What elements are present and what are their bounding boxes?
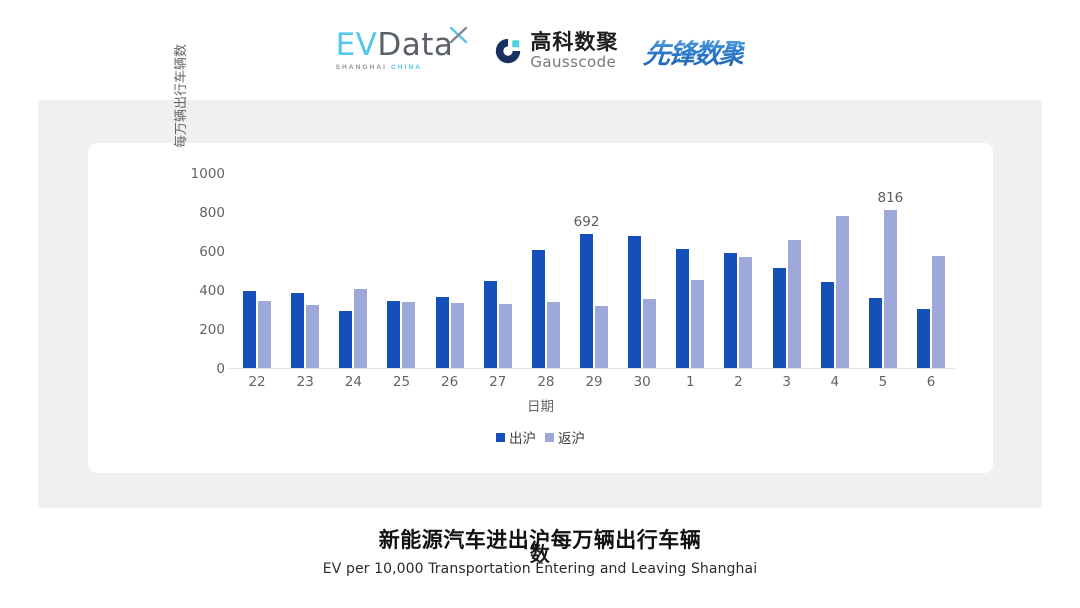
bar-group — [329, 174, 377, 368]
x-tick-label: 25 — [377, 374, 425, 390]
x-tick-label: 27 — [474, 374, 522, 390]
x-tick-label: 5 — [859, 374, 907, 390]
bar-back[interactable] — [788, 240, 801, 368]
legend-swatch — [545, 433, 554, 442]
bar-value-label: 692 — [574, 214, 600, 230]
bar-out[interactable] — [821, 282, 834, 368]
evdata-ev-text: EV — [336, 27, 378, 63]
chart-legend: 出沪返沪 — [88, 427, 993, 447]
bar-group — [763, 174, 811, 368]
logo-strip: EVData SHANGHAI CHINA 高科数聚 Gausscode 先锋数… — [0, 0, 1080, 96]
bar-group — [811, 174, 859, 368]
x-tick-label: 26 — [426, 374, 474, 390]
bar-out[interactable] — [869, 298, 882, 368]
bar-out[interactable] — [339, 311, 352, 368]
x-tick-label: 3 — [763, 374, 811, 390]
bar-out[interactable] — [532, 250, 545, 368]
y-tick-label: 1000 — [191, 166, 225, 182]
xianfeng-logo: 先锋数聚 — [642, 32, 746, 71]
bar-group: 816 — [859, 174, 907, 368]
caption-cn-text: 新能源汽车进出沪每万辆出行车辆 — [379, 528, 702, 552]
bar-group — [377, 174, 425, 368]
bar-back[interactable] — [691, 280, 704, 368]
x-tick-label: 22 — [233, 374, 281, 390]
bar-back[interactable] — [643, 299, 656, 368]
bar-chart: 每万辆出行车辆数 10008006004002000 692816 222324… — [88, 143, 993, 473]
bar-group: 692 — [570, 174, 618, 368]
x-tick-label: 28 — [522, 374, 570, 390]
x-tick-label: 2 — [714, 374, 762, 390]
caption-en-title: EV per 10,000 Transportation Entering an… — [0, 561, 1080, 577]
x-tick-label: 29 — [570, 374, 618, 390]
x-tick-labels: 222324252627282930123456 — [233, 374, 955, 390]
evdata-logo: EVData SHANGHAI CHINA — [336, 30, 468, 72]
y-tick-label: 400 — [199, 283, 225, 299]
bar-out[interactable] — [724, 253, 737, 368]
caption-block: 新能源汽车进出沪每万辆出行车辆 数 EV per 10,000 Transpor… — [0, 528, 1080, 577]
bar-back[interactable] — [499, 304, 512, 368]
gausscode-en-text: Gausscode — [530, 55, 618, 70]
bar-out[interactable]: 692 — [580, 234, 593, 368]
bar-out[interactable] — [436, 297, 449, 368]
legend-item[interactable]: 返沪 — [545, 427, 585, 447]
plot-area: 10008006004002000 692816 — [233, 174, 955, 369]
bar-back[interactable] — [932, 256, 945, 368]
evdata-tagline-shanghai: SHANGHAI — [336, 64, 387, 71]
bar-out[interactable] — [291, 293, 304, 368]
x-tick-label: 1 — [666, 374, 714, 390]
x-tick-label: 4 — [811, 374, 859, 390]
y-axis-title: 每万辆出行车辆数 — [170, 11, 188, 181]
y-tick-label: 200 — [199, 322, 225, 338]
bar-out[interactable] — [676, 249, 689, 368]
evdata-tagline: SHANGHAI CHINA — [336, 65, 422, 72]
evdata-tagline-china: CHINA — [391, 64, 422, 71]
y-tick-label: 600 — [199, 244, 225, 260]
gausscode-texts: 高科数聚 Gausscode — [530, 32, 618, 70]
bar-out[interactable] — [243, 291, 256, 368]
legend-item[interactable]: 出沪 — [496, 427, 536, 447]
bar-group — [618, 174, 666, 368]
bar-out[interactable] — [773, 268, 786, 368]
chart-card: 每万辆出行车辆数 10008006004002000 692816 222324… — [88, 143, 993, 473]
y-tick-label: 800 — [199, 205, 225, 221]
x-axis-title: 日期 — [88, 395, 993, 415]
bar-back[interactable] — [739, 257, 752, 368]
bar-back[interactable] — [595, 306, 608, 368]
bar-out[interactable] — [628, 236, 641, 368]
x-tick-label: 30 — [618, 374, 666, 390]
legend-swatch — [496, 433, 505, 442]
bar-out[interactable] — [484, 281, 497, 368]
bar-back[interactable] — [402, 302, 415, 368]
bar-group — [907, 174, 955, 368]
caption-cn-title: 新能源汽车进出沪每万辆出行车辆 数 — [0, 528, 1080, 552]
bar-group — [522, 174, 570, 368]
bar-back[interactable] — [547, 302, 560, 368]
bar-group — [714, 174, 762, 368]
x-tick-label: 23 — [281, 374, 329, 390]
bar-back[interactable] — [354, 289, 367, 368]
legend-label: 出沪 — [509, 427, 536, 447]
bar-out[interactable] — [917, 309, 930, 368]
bar-back[interactable] — [451, 303, 464, 368]
bar-group — [281, 174, 329, 368]
bar-out[interactable] — [387, 301, 400, 368]
bar-groups: 692816 — [233, 174, 955, 368]
evdata-wordmark: EVData — [336, 30, 454, 61]
bar-back[interactable]: 816 — [884, 210, 897, 368]
x-mark-icon — [449, 25, 469, 45]
gausscode-logo: 高科数聚 Gausscode — [493, 32, 618, 70]
x-tick-label: 6 — [907, 374, 955, 390]
bar-group — [666, 174, 714, 368]
bar-back[interactable] — [836, 216, 849, 368]
x-tick-label: 24 — [329, 374, 377, 390]
y-tick-label: 0 — [216, 361, 225, 377]
bar-back[interactable] — [258, 301, 271, 368]
bar-value-label: 816 — [878, 190, 904, 206]
legend-label: 返沪 — [558, 427, 585, 447]
bar-group — [474, 174, 522, 368]
evdata-data-text: Data — [377, 27, 453, 63]
gausscode-circle-icon — [493, 36, 523, 66]
gausscode-cn-text: 高科数聚 — [530, 32, 618, 53]
bar-back[interactable] — [306, 305, 319, 368]
bar-group — [426, 174, 474, 368]
bar-group — [233, 174, 281, 368]
